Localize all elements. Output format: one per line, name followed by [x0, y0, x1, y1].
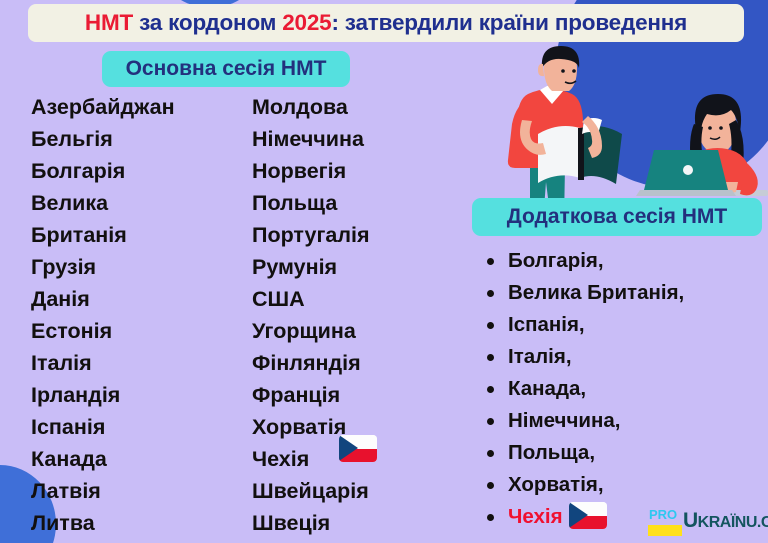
- list-item: Канада: [31, 443, 175, 475]
- list-item: Бельгія: [31, 123, 175, 155]
- list-item: Грузія: [31, 251, 175, 283]
- main-session-column-1: Азербайджан Бельгія Болгарія Велика Брит…: [31, 91, 175, 543]
- logo-main-text: UKRAÏNU.CZ: [683, 508, 768, 536]
- list-item: Естонія: [31, 315, 175, 347]
- list-item: Данія: [31, 283, 175, 315]
- main-session-badge-label: Основна сесія НМТ: [126, 57, 327, 81]
- list-item: Канада,: [486, 373, 684, 405]
- list-item: Португалія: [252, 219, 370, 251]
- list-item: Іспанія: [31, 411, 175, 443]
- logo-main-rest: KRAÏNU.CZ: [698, 514, 768, 531]
- students-illustration: [460, 38, 768, 222]
- main-session-badge: Основна сесія НМТ: [102, 51, 350, 87]
- list-item: США: [252, 283, 370, 315]
- list-item: Польща: [252, 187, 370, 219]
- list-item: Італія: [31, 347, 175, 379]
- logo-pro-text: PRO: [649, 507, 677, 522]
- czech-flag-icon: [569, 502, 607, 529]
- list-item: Німеччина: [252, 123, 370, 155]
- page-title-part-tail: : затвердили країни проведення: [331, 10, 687, 35]
- list-item: Литва: [31, 507, 175, 539]
- czech-flag-blue-wedge: [569, 502, 588, 528]
- page-title-part-year: 2025: [282, 10, 331, 35]
- poster-canvas: НМТ за кордоном 2025: затвердили країни …: [0, 0, 768, 543]
- list-item: Люксембург: [31, 539, 175, 543]
- extra-session-list: Болгарія, Велика Британія, Іспанія, Італ…: [486, 245, 684, 533]
- list-item: Болгарія: [31, 155, 175, 187]
- list-item-highlighted-label: Чехія: [508, 505, 563, 528]
- list-item: Франція: [252, 379, 370, 411]
- extra-session-badge: Додаткова сесія НМТ: [472, 198, 762, 236]
- poster-title-bar: НМТ за кордоном 2025: затвердили країни …: [28, 4, 744, 42]
- list-item: Велика: [31, 187, 175, 219]
- logo-pro-block: PRO: [648, 508, 682, 536]
- list-item: Фінляндія: [252, 347, 370, 379]
- czech-flag-icon: [339, 435, 377, 462]
- czech-flag-blue-wedge: [339, 435, 358, 461]
- list-item: Британія: [31, 219, 175, 251]
- list-item: Швеція: [252, 507, 370, 539]
- page-title: НМТ за кордоном 2025: затвердили країни …: [85, 10, 687, 36]
- list-item: Польща,: [486, 437, 684, 469]
- pro-ukrainu-logo[interactable]: PRO UKRAÏNU.CZ: [648, 504, 768, 536]
- list-item: Азербайджан: [31, 91, 175, 123]
- list-item: Хорватія,: [486, 469, 684, 501]
- list-item: Ірландія: [31, 379, 175, 411]
- main-session-column-2: Молдова Німеччина Норвегія Польща Португ…: [252, 91, 370, 539]
- logo-yellow-bar: [648, 525, 682, 536]
- list-item: Норвегія: [252, 155, 370, 187]
- list-item: Латвія: [31, 475, 175, 507]
- extra-session-badge-label: Додаткова сесія НМТ: [507, 205, 727, 229]
- page-title-part-mid: за кордоном: [133, 10, 282, 35]
- list-item: Німеччина,: [486, 405, 684, 437]
- list-item: Швейцарія: [252, 475, 370, 507]
- list-item: Румунія: [252, 251, 370, 283]
- list-item: Італія,: [486, 341, 684, 373]
- list-item: Угорщина: [252, 315, 370, 347]
- list-item: Болгарія,: [486, 245, 684, 277]
- page-title-part-nmt: НМТ: [85, 10, 133, 35]
- list-item: Молдова: [252, 91, 370, 123]
- list-item: Велика Британія,: [486, 277, 684, 309]
- list-item: Іспанія,: [486, 309, 684, 341]
- logo-main-cap: U: [683, 509, 698, 532]
